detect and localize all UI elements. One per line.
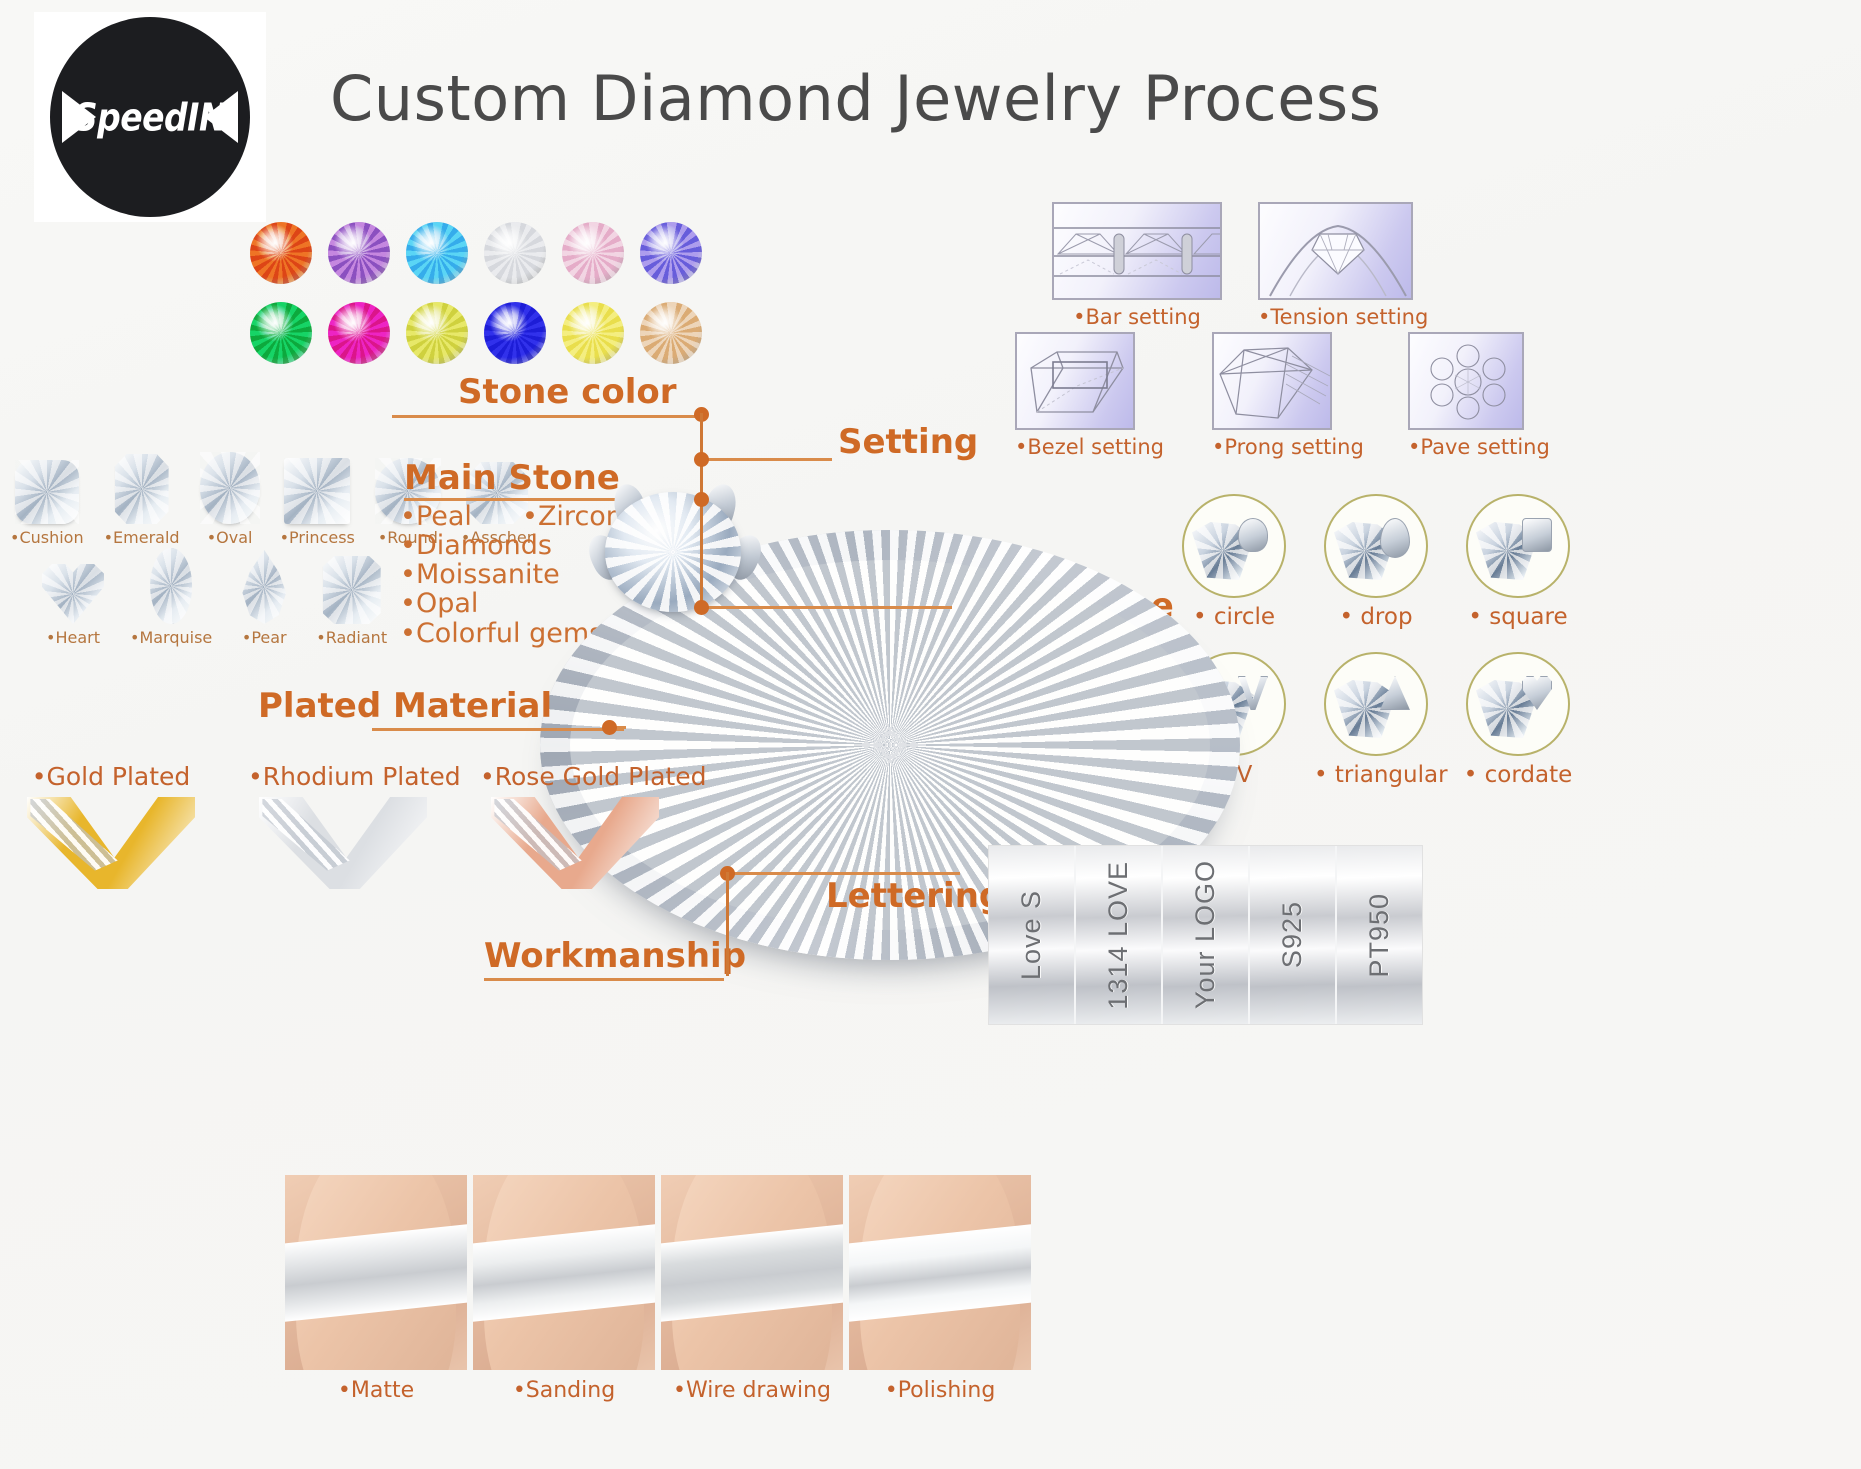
cut-shape-label: •Heart: [42, 628, 104, 647]
stone-color-swatch-white-clear[interactable]: [484, 222, 546, 284]
lettering-sample-text: S925: [1277, 901, 1308, 968]
claw-shape-label: cordate: [1456, 762, 1580, 788]
ring-head: [585, 480, 765, 650]
plated-ring-image: [259, 797, 427, 889]
claw-shape-drop[interactable]: drop: [1314, 494, 1438, 630]
stone-color-row-2: [250, 302, 702, 364]
workmanship-photo: [285, 1175, 467, 1370]
plated-material-heading: Plated Material: [258, 686, 552, 726]
setting-item-prong[interactable]: Prong setting: [1212, 332, 1364, 459]
stone-color-swatch-royal-blue[interactable]: [484, 302, 546, 364]
cut-shape-label: •Princess: [280, 528, 355, 547]
plated-label: Gold Plated: [16, 762, 206, 791]
workmanship-rule: [484, 978, 724, 981]
lettering-samples-panel: Love S1314 LOVEYour LOGOS925PT950: [988, 845, 1423, 1025]
stone-color-row-1: [250, 222, 702, 284]
workmanship-photo: [661, 1175, 843, 1370]
center-diamond: [605, 492, 741, 612]
cut-shape-pear[interactable]: •Pear: [238, 550, 290, 647]
lettering-sample-2[interactable]: Your LOGO: [1163, 846, 1250, 1024]
connector-dot-plated-material: [602, 720, 617, 735]
setting-heading: Setting: [838, 422, 978, 462]
bar-setting-diagram: [1052, 202, 1222, 300]
logo-text: SpeedIN: [74, 95, 226, 140]
workmanship-sanding[interactable]: Sanding: [473, 1175, 655, 1403]
connector-claw-shape: [700, 606, 952, 609]
setting-item-pave[interactable]: Pave setting: [1408, 332, 1550, 459]
workmanship-matte[interactable]: Matte: [285, 1175, 467, 1403]
cut-shape-label: •Radiant: [316, 628, 387, 647]
plated-material-rule: [372, 728, 624, 731]
plated-ring-image: [27, 797, 195, 889]
cut-shape-emerald[interactable]: •Emerald: [104, 454, 180, 547]
stone-color-swatch-light-pink[interactable]: [562, 222, 624, 284]
stone-color-swatch-amethyst-purple[interactable]: [328, 222, 390, 284]
brand-logo: SpeedIN: [34, 12, 266, 222]
connector-trunk: [700, 413, 703, 609]
connector-dot-setting: [694, 452, 709, 467]
cut-shape-icon: [200, 452, 260, 524]
cut-shape-label: •Emerald: [104, 528, 180, 547]
cut-shape-label: •Cushion: [10, 528, 84, 547]
cut-shape-icon: [150, 548, 192, 624]
claw-shape-icon: [1324, 652, 1428, 756]
stone-color-swatch-sky-blue[interactable]: [406, 222, 468, 284]
claw-shape-icon: [1466, 652, 1570, 756]
cut-shape-icon: [238, 550, 290, 624]
plated-rose-gold-plated[interactable]: Rose Gold Plated: [480, 762, 670, 889]
claw-prong-square: [1522, 518, 1552, 552]
setting-label: Pave setting: [1408, 435, 1550, 459]
claw-shape-label: triangular: [1314, 762, 1438, 788]
pave-setting-diagram: [1408, 332, 1524, 430]
cut-shape-label: •Marquise: [130, 628, 212, 647]
tension-setting-diagram: [1258, 202, 1413, 300]
claw-prong-drop: [1380, 518, 1410, 558]
claw-shape-square[interactable]: square: [1456, 494, 1580, 630]
cut-shape-princess[interactable]: •Princess: [280, 458, 355, 547]
setting-item-bezel[interactable]: Bezel setting: [1015, 332, 1164, 459]
claw-shape-cordate[interactable]: cordate: [1456, 652, 1580, 788]
workmanship-label: Wire drawing: [661, 1378, 843, 1403]
connector-lettering-vertical: [726, 872, 729, 976]
claw-shape-label: square: [1456, 604, 1580, 630]
stone-color-swatch-orange-red[interactable]: [250, 222, 312, 284]
cut-shape-cushion[interactable]: •Cushion: [10, 460, 84, 547]
connector-dot-claw-shape: [694, 600, 709, 615]
claw-shape-triangular[interactable]: triangular: [1314, 652, 1438, 788]
stone-color-swatch-olive-yellow[interactable]: [406, 302, 468, 364]
claw-shape-icon: [1466, 494, 1570, 598]
workmanship-photo: [849, 1175, 1031, 1370]
lettering-sample-0[interactable]: Love S: [989, 846, 1076, 1024]
stone-color-swatch-lemon-yellow[interactable]: [562, 302, 624, 364]
cut-shape-icon: [323, 556, 381, 624]
lettering-sample-text: PT950: [1364, 893, 1395, 978]
cut-shape-label: •Oval: [200, 528, 260, 547]
setting-label: Bar setting: [1052, 305, 1222, 329]
stone-color-swatch-magenta[interactable]: [328, 302, 390, 364]
connector-dot-main-stone: [694, 492, 709, 507]
bezel-setting-diagram: [1015, 332, 1135, 430]
setting-label: Bezel setting: [1015, 435, 1164, 459]
lettering-sample-4[interactable]: PT950: [1337, 846, 1422, 1024]
logo-circle: SpeedIN: [50, 17, 250, 217]
lettering-sample-1[interactable]: 1314 LOVE: [1076, 846, 1163, 1024]
workmanship-photo: [473, 1175, 655, 1370]
cut-shape-heart[interactable]: •Heart: [42, 564, 104, 647]
prong-setting-diagram: [1212, 332, 1332, 430]
cut-shape-label: •Pear: [238, 628, 290, 647]
plated-gold-plated[interactable]: Gold Plated: [16, 762, 206, 889]
connector-setting: [700, 458, 832, 461]
page-title: Custom Diamond Jewelry Process: [330, 62, 1430, 135]
cut-shape-radiant[interactable]: •Radiant: [316, 556, 387, 647]
lettering-sample-3[interactable]: S925: [1250, 846, 1337, 1024]
logo-wing-icon: SpeedIN: [60, 87, 240, 147]
cut-shape-icon: [115, 454, 169, 524]
lettering-sample-text: Love S: [1016, 890, 1047, 980]
plated-ring-image: [491, 797, 659, 889]
stone-color-swatch-emerald-green[interactable]: [250, 302, 312, 364]
workmanship-wire-drawing[interactable]: Wire drawing: [661, 1175, 843, 1403]
workmanship-label: Sanding: [473, 1378, 655, 1403]
workmanship-label: Matte: [285, 1378, 467, 1403]
cut-shape-marquise[interactable]: •Marquise: [130, 548, 212, 647]
claw-shape-icon: [1324, 494, 1428, 598]
cut-shape-icon: [42, 564, 104, 624]
setting-label: Prong setting: [1212, 435, 1364, 459]
plated-material-grid: Gold PlatedRhodium PlatedRose Gold Plate…: [16, 762, 670, 889]
claw-shape-label: drop: [1314, 604, 1438, 630]
stone-color-heading: Stone color: [458, 372, 677, 412]
cut-shape-icon: [284, 458, 350, 524]
cut-shape-icon: [15, 460, 79, 524]
cut-shape-row-2: •Heart•Marquise•Pear•Radiant: [42, 548, 387, 647]
stone-color-swatch-champagne[interactable]: [640, 302, 702, 364]
setting-label: Tension setting: [1258, 305, 1428, 329]
workmanship-heading: Workmanship: [484, 936, 746, 976]
plated-label: Rose Gold Plated: [480, 762, 670, 791]
workmanship-polishing[interactable]: Polishing: [849, 1175, 1031, 1403]
cut-shape-oval[interactable]: •Oval: [200, 452, 260, 547]
setting-item-tension[interactable]: Tension setting: [1258, 202, 1428, 329]
lettering-sample-text: Your LOGO: [1190, 860, 1221, 1009]
plated-rhodium-plated[interactable]: Rhodium Plated: [248, 762, 438, 889]
stone-color-swatch-violet[interactable]: [640, 222, 702, 284]
lettering-sample-text: 1314 LOVE: [1103, 861, 1134, 1010]
stone-color-rule: [392, 415, 700, 418]
workmanship-label: Polishing: [849, 1378, 1031, 1403]
lettering-heading: Lettering: [826, 876, 1003, 916]
plated-label: Rhodium Plated: [248, 762, 438, 791]
workmanship-grid: MatteSandingWire drawingPolishing: [285, 1175, 1031, 1403]
setting-item-bar[interactable]: Bar setting: [1052, 202, 1222, 329]
infographic-canvas: SpeedIN Custom Diamond Jewelry Process S…: [0, 0, 1861, 1469]
connector-lettering: [726, 872, 960, 875]
